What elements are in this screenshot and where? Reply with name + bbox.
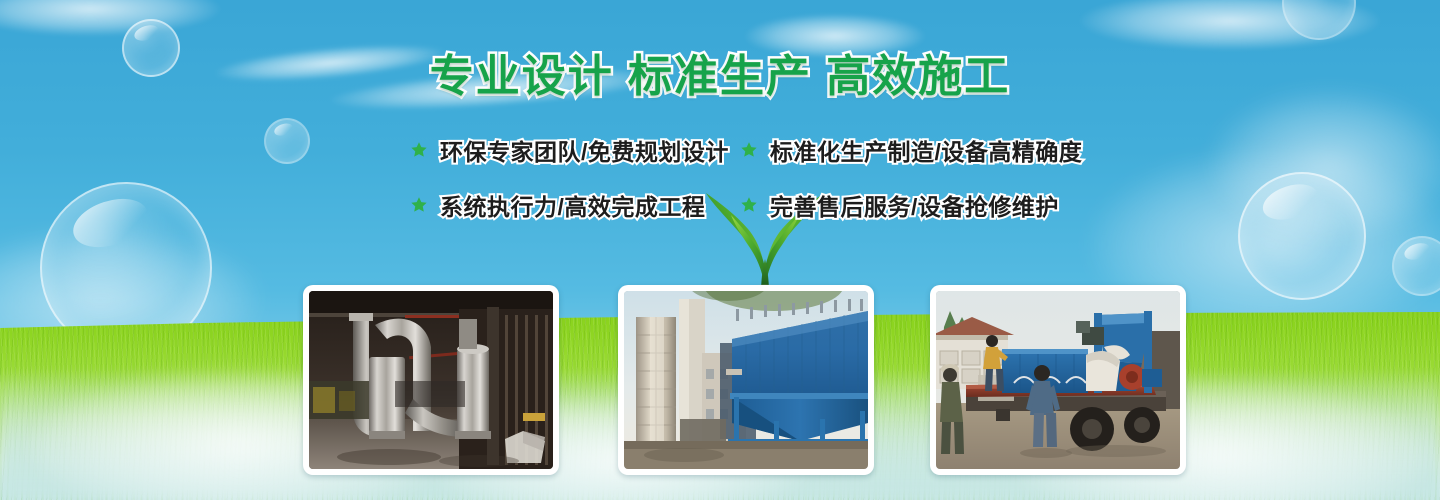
dust-collector-photo[interactable]	[618, 285, 874, 475]
feature-item-2: 标准化生产制造/设备高精确度	[740, 122, 1090, 177]
soap-bubble-icon	[1238, 172, 1366, 300]
feature-item-4: 完善售后服务/设备抢修维护	[740, 177, 1090, 232]
feature-label: 环保专家团队/免费规划设计	[440, 133, 729, 167]
feature-list: 环保专家团队/免费规划设计 标准化生产制造/设备高精确度 系统执行力/高效完成工…	[410, 122, 1090, 232]
star-icon	[410, 196, 428, 214]
star-icon	[410, 141, 428, 159]
feature-label: 完善售后服务/设备抢修维护	[770, 188, 1059, 222]
promo-banner: 专业设计 标准生产 高效施工 环保专家团队/免费规划设计 标准化生产制造/设备高…	[0, 0, 1440, 500]
feature-label: 系统执行力/高效完成工程	[440, 188, 705, 222]
soap-bubble-icon	[264, 118, 310, 164]
feature-item-3: 系统执行力/高效完成工程	[410, 177, 740, 232]
feature-label: 标准化生产制造/设备高精确度	[770, 133, 1082, 167]
industrial-ductwork-photo[interactable]	[303, 285, 559, 475]
star-icon	[740, 141, 758, 159]
feature-item-1: 环保专家团队/免费规划设计	[410, 122, 740, 177]
star-icon	[740, 196, 758, 214]
page-title: 专业设计 标准生产 高效施工	[0, 40, 1440, 104]
equipment-delivery-photo[interactable]	[930, 285, 1186, 475]
